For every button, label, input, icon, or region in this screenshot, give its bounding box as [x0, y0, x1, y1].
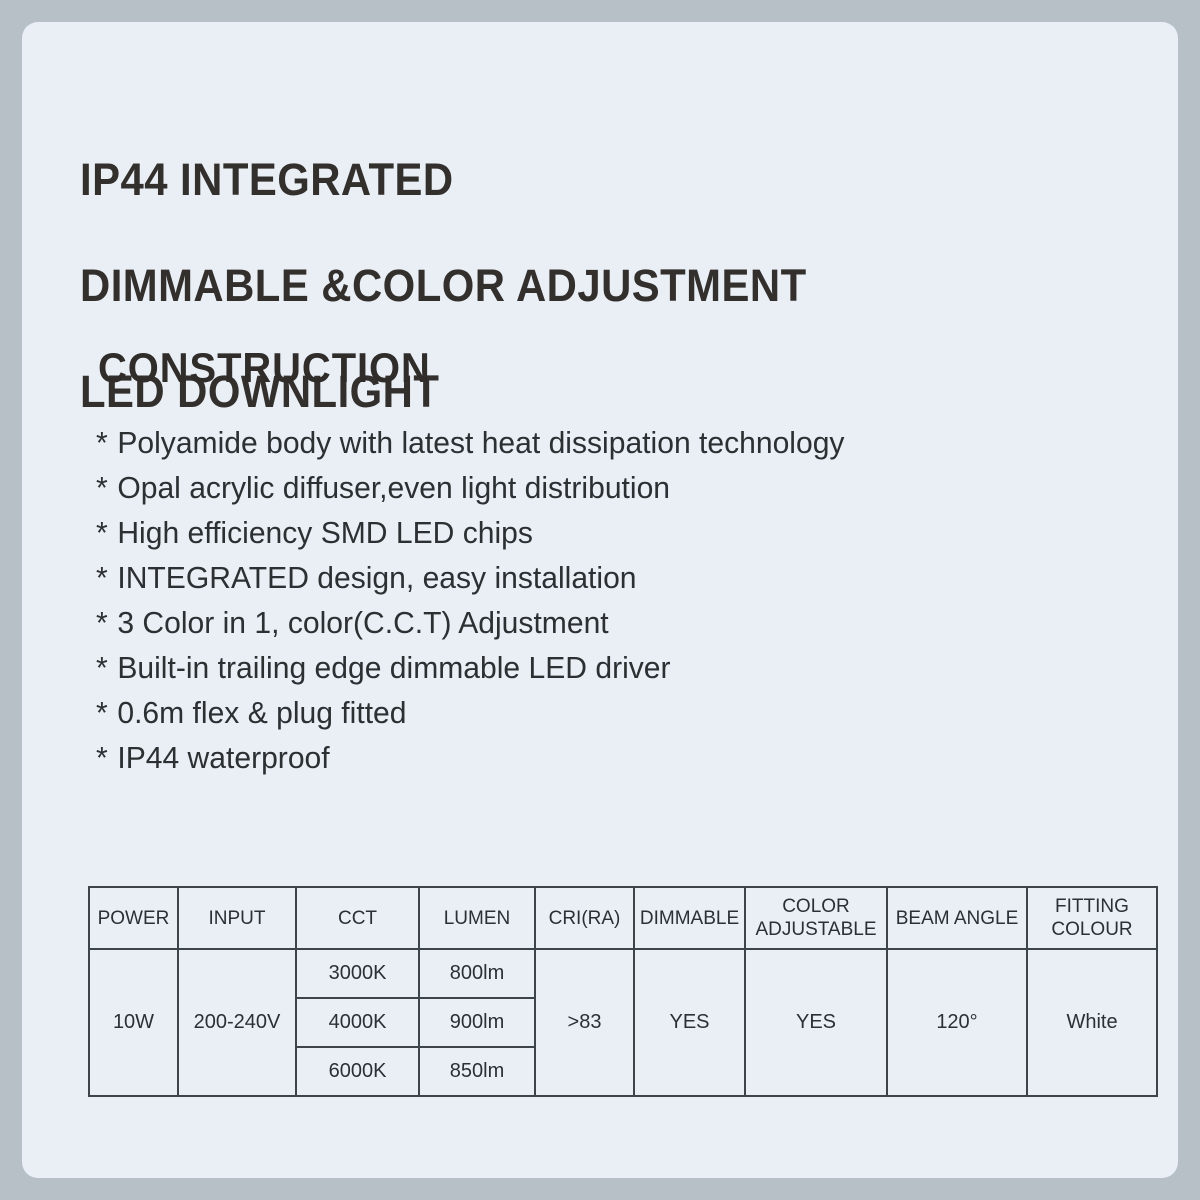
header-color-adjustable: COLOR ADJUSTABLE [745, 887, 887, 949]
cell-beam-angle: 120° [887, 949, 1027, 1096]
header-cct: CCT [296, 887, 419, 949]
list-item: *INTEGRATED design, easy installation [96, 555, 1085, 600]
list-item: *3 Color in 1, color(C.C.T) Adjustment [96, 600, 1085, 645]
list-item: *IP44 waterproof [96, 735, 1085, 780]
bullet-marker-icon: * [96, 420, 117, 465]
cell-cct-3: 6000K [296, 1047, 419, 1096]
list-item-label: IP44 waterproof [117, 740, 329, 775]
table-header-row: POWER INPUT CCT LUMEN CRI(RA) DIMMABLE C… [89, 887, 1157, 949]
list-item: *Polyamide body with latest heat dissipa… [96, 420, 1085, 465]
header-input: INPUT [178, 887, 296, 949]
title-line-1: IP44 INTEGRATED [80, 153, 1047, 206]
bullet-marker-icon: * [96, 735, 117, 780]
cell-input: 200-240V [178, 949, 296, 1096]
cell-cri: >83 [535, 949, 634, 1096]
list-item: *Built-in trailing edge dimmable LED dri… [96, 645, 1085, 690]
header-fitting-colour: FITTING COLOUR [1027, 887, 1157, 949]
bullet-marker-icon: * [96, 645, 117, 690]
list-item-label: Polyamide body with latest heat dissipat… [117, 425, 844, 460]
list-item: *0.6m flex & plug fitted [96, 690, 1085, 735]
list-item-label: Opal acrylic diffuser,even light distrib… [117, 470, 670, 505]
header-power: POWER [89, 887, 178, 949]
title-line-2: DIMMABLE &COLOR ADJUSTMENT [80, 259, 1047, 312]
cell-fitting-colour: White [1027, 949, 1157, 1096]
header-beam-angle: BEAM ANGLE [887, 887, 1027, 949]
bullet-marker-icon: * [96, 600, 117, 645]
list-item-label: INTEGRATED design, easy installation [117, 560, 636, 595]
header-lumen: LUMEN [419, 887, 535, 949]
construction-heading: CONSTRUCTION [98, 344, 431, 392]
cell-power: 10W [89, 949, 178, 1096]
cell-cct-1: 3000K [296, 949, 419, 998]
cell-cct-2: 4000K [296, 998, 419, 1047]
construction-list: *Polyamide body with latest heat dissipa… [96, 420, 1116, 780]
bullet-marker-icon: * [96, 510, 117, 555]
header-cri: CRI(RA) [535, 887, 634, 949]
table-row: 10W 200-240V 3000K 800lm >83 YES YES 120… [89, 949, 1157, 998]
list-item-label: Built-in trailing edge dimmable LED driv… [117, 650, 670, 685]
cell-lumen-2: 900lm [419, 998, 535, 1047]
list-item: *High efficiency SMD LED chips [96, 510, 1085, 555]
bullet-marker-icon: * [96, 690, 117, 735]
specification-table: POWER INPUT CCT LUMEN CRI(RA) DIMMABLE C… [88, 886, 1158, 1097]
cell-lumen-3: 850lm [419, 1047, 535, 1096]
cell-lumen-1: 800lm [419, 949, 535, 998]
list-item-label: 3 Color in 1, color(C.C.T) Adjustment [117, 605, 608, 640]
bullet-marker-icon: * [96, 465, 117, 510]
list-item: *Opal acrylic diffuser,even light distri… [96, 465, 1085, 510]
header-dimmable: DIMMABLE [634, 887, 745, 949]
cell-dimmable: YES [634, 949, 745, 1096]
document-panel: IP44 INTEGRATED DIMMABLE &COLOR ADJUSTME… [22, 22, 1178, 1178]
cell-color-adjustable: YES [745, 949, 887, 1096]
list-item-label: High efficiency SMD LED chips [117, 515, 533, 550]
page-title: IP44 INTEGRATED DIMMABLE &COLOR ADJUSTME… [80, 100, 1047, 471]
bullet-marker-icon: * [96, 555, 117, 600]
list-item-label: 0.6m flex & plug fitted [117, 695, 406, 730]
